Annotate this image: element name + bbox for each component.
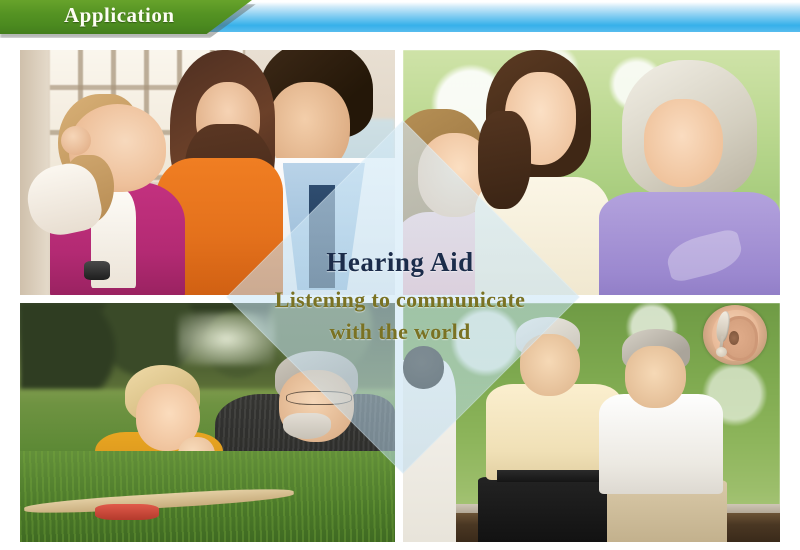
page-title: Application xyxy=(64,3,175,28)
ear-canal xyxy=(729,331,739,344)
page-header-banner: Application xyxy=(0,0,800,36)
elderly-woman-blouse xyxy=(599,394,723,494)
toy-plane-body xyxy=(95,504,159,521)
hearing-aid-ear-inset xyxy=(703,305,767,365)
elderly-woman-face xyxy=(625,346,685,408)
woman-hair-strand xyxy=(478,111,531,209)
grandmother-face xyxy=(644,99,723,187)
hearing-aid-earmold xyxy=(716,347,727,357)
elderly-man-trousers xyxy=(478,477,614,542)
elderly-man-belt xyxy=(497,470,603,482)
wristwatch xyxy=(84,261,110,281)
